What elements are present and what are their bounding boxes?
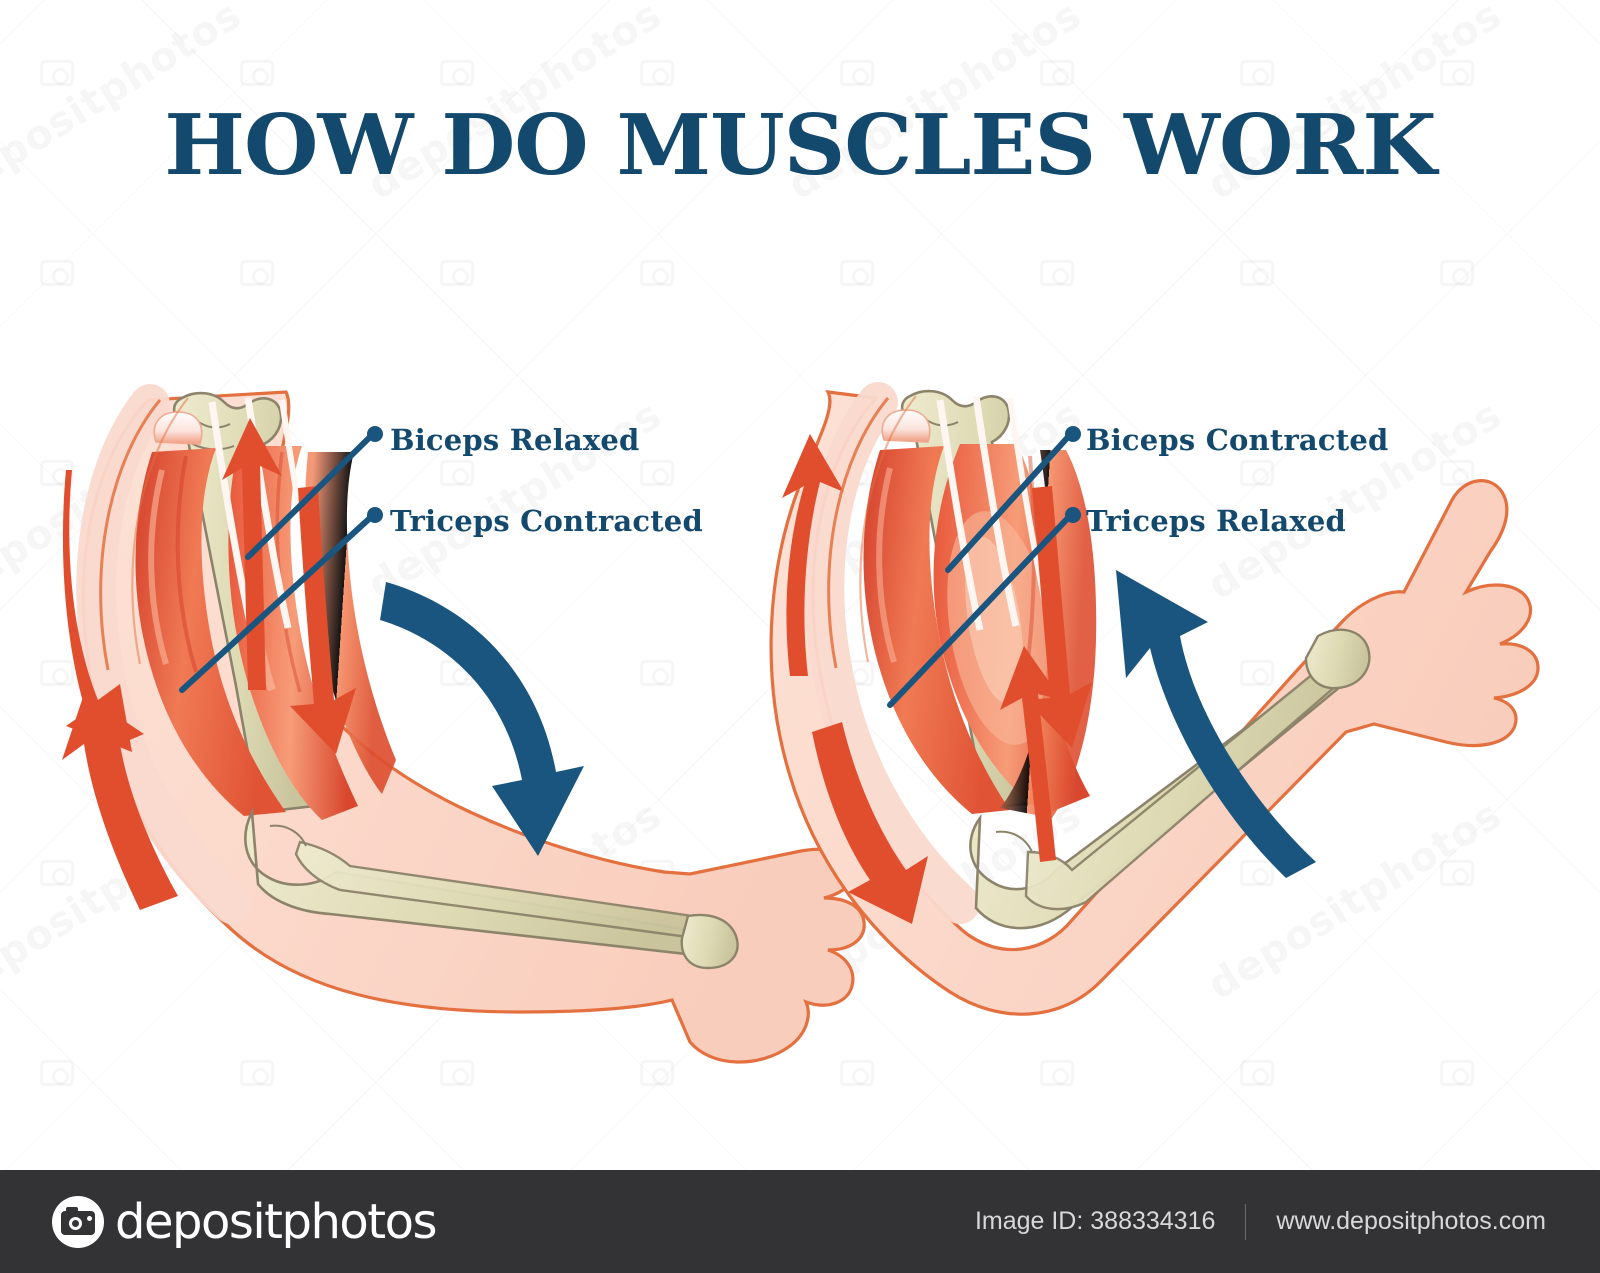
depositphotos-logo[interactable]: depositphotos <box>52 1194 436 1250</box>
image-id-text: Image ID: 388334316 <box>975 1207 1215 1236</box>
label-biceps-contracted: Biceps Contracted <box>1086 423 1389 457</box>
label-triceps-contracted: Triceps Contracted <box>390 504 703 538</box>
diagram-canvas: depositphotosdepositphotosdepositphotosd… <box>0 0 1600 1273</box>
footer-divider <box>1245 1204 1246 1240</box>
footer-meta: Image ID: 388334316 www.depositphotos.co… <box>975 1204 1546 1240</box>
website-link[interactable]: www.depositphotos.com <box>1276 1207 1546 1236</box>
label-triceps-relaxed: Triceps Relaxed <box>1086 504 1346 538</box>
depositphotos-footer-bar: depositphotos Image ID: 388334316 www.de… <box>0 1170 1600 1273</box>
brand-wordmark: depositphotos <box>115 1194 436 1250</box>
camera-icon <box>52 1196 104 1248</box>
label-biceps-relaxed: Biceps Relaxed <box>390 423 640 457</box>
callout-labels: Biceps Relaxed Triceps Contracted Biceps… <box>0 0 1600 1273</box>
